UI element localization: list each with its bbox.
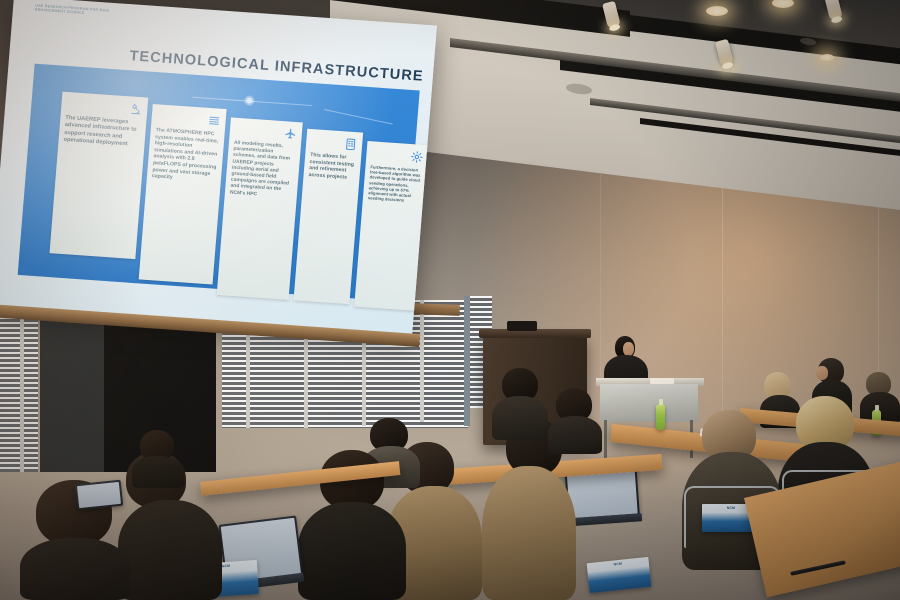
- torso: [132, 456, 184, 488]
- slide-card-text: The UAEREP leverages advanced infrastruc…: [63, 115, 141, 150]
- slide-card-text: Furthermore, a decision tree-based algor…: [368, 164, 423, 204]
- blind-post: [420, 300, 424, 422]
- attendee-center-left: [492, 368, 548, 440]
- airplane-icon: [283, 127, 297, 141]
- slide-blue-band: The UAEREP leverages advanced infrastruc…: [18, 64, 420, 302]
- slide-card: The UAEREP leverages advanced infrastruc…: [49, 92, 148, 259]
- laptop-display: [77, 482, 121, 508]
- lectern-monitor: [507, 321, 537, 331]
- projection-screen: UAE RESEARCH PROGRAM FOR RAIN ENHANCEMEN…: [0, 0, 437, 335]
- checklist-icon: [344, 137, 358, 151]
- gear-icon: [410, 150, 424, 164]
- slide-card-text: The ATMOSPHERE HPC system enables real-t…: [152, 127, 220, 184]
- slide-card-row: The UAEREP leverages advanced infrastruc…: [47, 90, 437, 312]
- face: [816, 366, 828, 380]
- slide-card: All modeling results, parameterization s…: [217, 117, 303, 299]
- laptop: [75, 480, 123, 511]
- window-dark-panel: [40, 300, 104, 472]
- torso: [20, 538, 130, 600]
- desk-leg: [604, 420, 607, 460]
- torso: [118, 500, 222, 600]
- slide-card: The ATMOSPHERE HPC system enables real-t…: [139, 104, 227, 285]
- attendee-center-left-two: [548, 388, 602, 454]
- slide-card: This allows for consistent testing and r…: [294, 129, 364, 304]
- slide-surface: UAE RESEARCH PROGRAM FOR RAIN ENHANCEMEN…: [0, 0, 437, 335]
- slide-card-text: This allows for consistent testing and r…: [308, 152, 356, 181]
- torso: [298, 502, 406, 600]
- torso: [492, 396, 548, 440]
- torso: [482, 466, 576, 600]
- conference-room-photo: UAE RESEARCH PROGRAM FOR RAIN ENHANCEMEN…: [0, 0, 900, 600]
- attendee-left-rear: [132, 430, 184, 488]
- torso: [548, 416, 602, 454]
- slide-card-text: All modeling results, parameterization s…: [230, 141, 296, 201]
- ceiling-dome-light: [706, 6, 728, 16]
- ceiling-dome-light: [820, 54, 834, 61]
- server-stack-icon: [207, 114, 221, 128]
- green-tea-bottle: [656, 404, 665, 430]
- microscope-icon: [129, 102, 143, 116]
- wall-seam: [600, 150, 601, 380]
- slide-logo: UAE RESEARCH PROGRAM FOR RAIN ENHANCEMEN…: [35, 4, 122, 19]
- face: [623, 342, 634, 356]
- paper-sheet: [650, 378, 674, 384]
